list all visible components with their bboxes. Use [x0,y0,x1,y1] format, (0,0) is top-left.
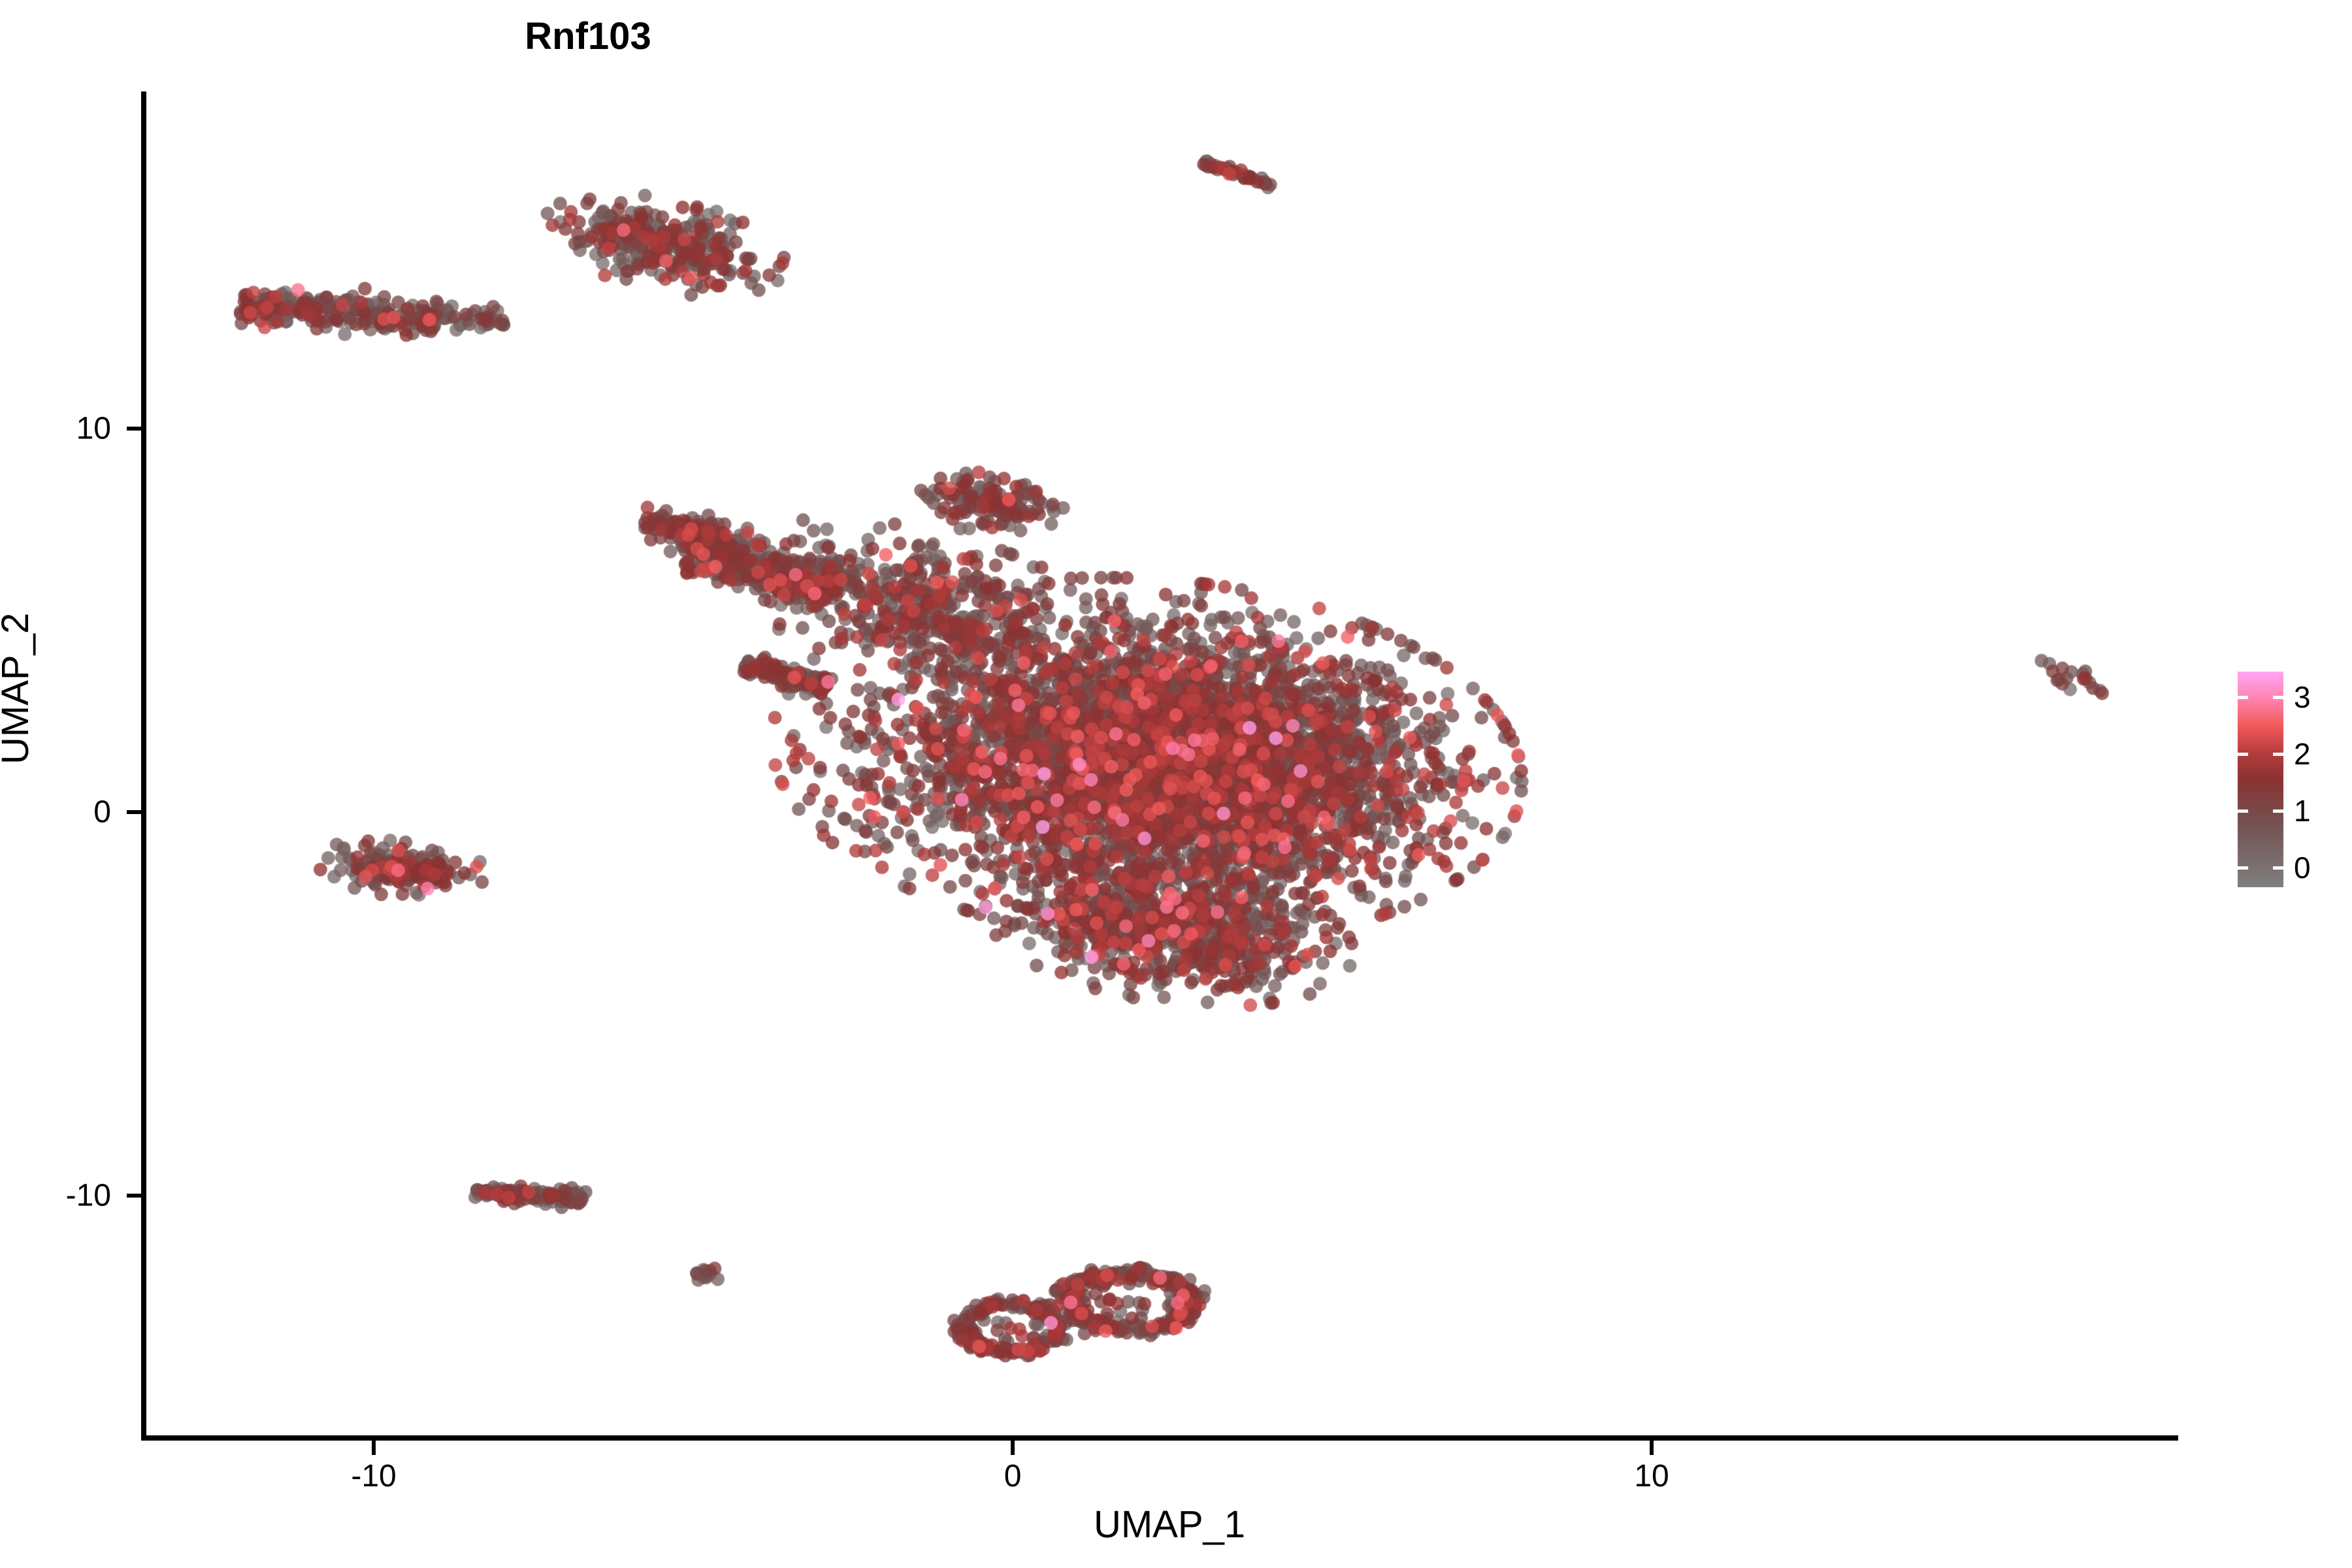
y-tick-mark [127,1194,141,1198]
y-tick-mark [127,810,141,814]
y-tick-label: 10 [13,411,111,447]
colorbar-tick-mark [2273,866,2283,870]
color-legend: 0123 [2238,672,2283,887]
y-axis-line [141,91,146,1441]
x-tick-mark [1011,1441,1015,1455]
colorbar-tick-label: 3 [2294,679,2311,715]
x-tick-mark [1650,1441,1654,1455]
y-tick-label: -10 [13,1178,111,1214]
colorbar-tick-mark [2238,866,2248,870]
x-axis-title: UMAP_1 [1094,1503,1245,1546]
colorbar-tick-label: 2 [2294,736,2311,772]
x-tick-mark [372,1441,376,1455]
scatter-points [144,91,2176,1437]
x-axis-line [141,1435,2178,1441]
colorbar-tick-label: 0 [2294,850,2311,885]
umap-feature-plot: Rnf103 -10010-10010 UMAP_2 UMAP_1 0123 [0,0,2352,1568]
colorbar-tick-label: 1 [2294,793,2311,828]
colorbar-tick-mark [2273,809,2283,813]
colorbar-tick-mark [2238,809,2248,813]
colorbar-tick-mark [2238,753,2248,756]
x-tick-label: 0 [947,1458,1078,1494]
scatter-canvas-wrap [144,91,2176,1437]
colorbar-gradient [2238,672,2283,887]
y-tick-label: 0 [13,794,111,830]
x-tick-label: -10 [308,1458,439,1494]
colorbar-tick-mark [2273,753,2283,756]
x-tick-label: 10 [1586,1458,1717,1494]
colorbar-tick-mark [2238,696,2248,699]
y-axis-title: UMAP_2 [0,613,37,764]
y-tick-mark [127,427,141,431]
plot-panel [144,91,2176,1437]
page-title: Rnf103 [0,14,2352,58]
colorbar-tick-mark [2273,696,2283,699]
